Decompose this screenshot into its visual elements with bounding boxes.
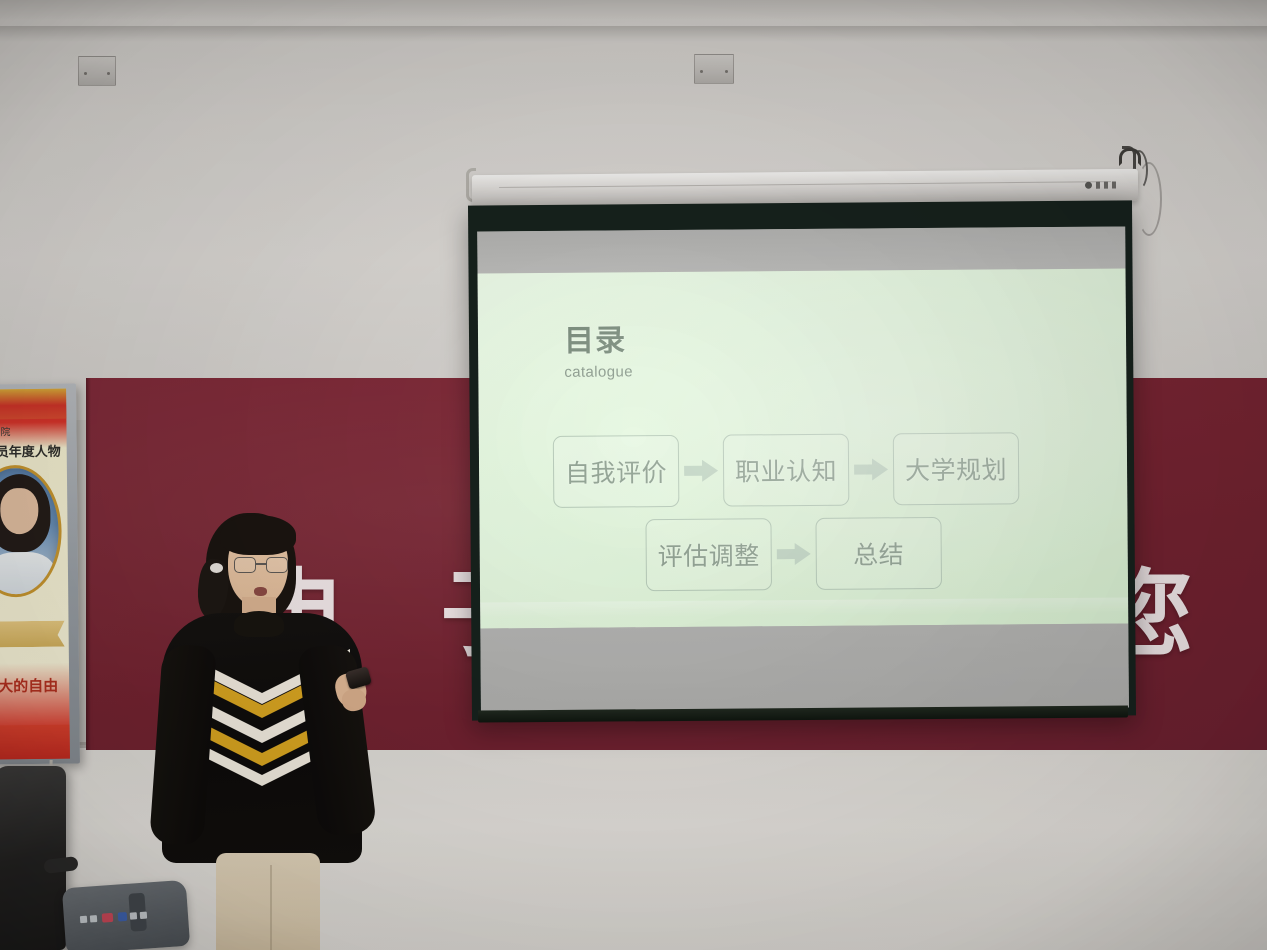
presenter-fringe <box>220 515 296 555</box>
logo-bar-icon <box>1096 182 1100 189</box>
slide-title-block: 目录 catalogue <box>564 326 633 381</box>
logo-bar-icon <box>1104 182 1108 189</box>
poster-portrait-photo <box>0 465 62 598</box>
poster-top-decoration <box>0 389 66 420</box>
logo-blue-icon <box>118 912 128 922</box>
brand-logo-icon <box>1085 182 1116 189</box>
wall-speaker-mount-left <box>78 56 116 86</box>
presenter-mouth <box>254 587 267 596</box>
portrait-face <box>0 488 38 534</box>
screen-band-bottom <box>480 623 1129 712</box>
glasses-bridge <box>256 563 266 565</box>
screw-icon <box>84 72 87 75</box>
projection-screen: 目录 catalogue 自我评价 职业认知 <box>468 200 1136 720</box>
hanging-cable-hook <box>1119 148 1141 166</box>
presenter-turtleneck-collar <box>234 611 284 637</box>
poster-motto-text: …大的自由 <box>0 675 70 697</box>
award-poster: …院 …员年度人物 …大的自由 <box>0 384 80 765</box>
ceiling-edge <box>0 26 1267 42</box>
backpack[interactable] <box>62 880 190 950</box>
glasses-lens-right <box>266 557 288 573</box>
portrait-body <box>0 552 55 598</box>
wall-speaker-mount-right <box>694 54 734 84</box>
red-banner-left-edge <box>86 378 91 750</box>
presenter-hair-tie <box>210 563 223 573</box>
housing-seam <box>499 181 1112 188</box>
glasses-icon <box>234 557 288 574</box>
screw-icon <box>700 70 703 73</box>
logo-square-icon <box>80 916 87 923</box>
screen-band-top <box>477 226 1125 273</box>
logo-dot-icon <box>1085 182 1092 189</box>
logo-square-icon <box>90 915 97 922</box>
logo-red-icon <box>102 913 114 923</box>
glasses-lens-left <box>234 557 256 573</box>
poster-bottom-decoration <box>0 725 70 760</box>
poster-award-title: …员年度人物 <box>0 441 69 461</box>
flow-box-career-cognition: 职业认知 <box>723 434 850 507</box>
screw-icon <box>107 72 110 75</box>
classroom-photo-scene: 电 子 信 您 目录 catalogue <box>0 0 1267 950</box>
logo-square-icon <box>140 912 147 919</box>
trouser-seam <box>270 865 272 950</box>
slide-flow-diagram: 自我评价 职业认知 大学规划 <box>553 432 1092 592</box>
flow-box-summary: 总结 <box>815 517 942 590</box>
poster-paper: …院 …员年度人物 …大的自由 <box>0 389 70 760</box>
logo-bar-icon <box>1112 182 1116 189</box>
slide-title: 目录 <box>564 326 633 357</box>
presenter-trousers <box>216 853 320 950</box>
student-presenter <box>150 505 390 950</box>
flow-arrow-right-icon <box>771 518 816 590</box>
projected-slide: 目录 catalogue 自我评价 职业认知 <box>478 268 1129 628</box>
flow-box-university-planning: 大学规划 <box>893 432 1020 505</box>
flow-row-1: 自我评价 职业认知 大学规划 <box>553 432 1092 508</box>
projection-screen-surface: 目录 catalogue 自我评价 职业认知 <box>477 226 1129 712</box>
slide-bottom-glow <box>480 597 1128 618</box>
poster-ribbon-decoration <box>0 621 65 648</box>
poster-org-line: …院 <box>0 423 69 439</box>
flow-box-assessment-adjustment: 评估调整 <box>645 518 772 591</box>
logo-square-icon <box>130 912 137 919</box>
flow-arrow-right-icon <box>849 433 894 505</box>
slide-subtitle: catalogue <box>564 363 633 381</box>
flow-arrow-right-icon <box>679 435 724 507</box>
flow-box-self-evaluation: 自我评价 <box>553 435 680 508</box>
screw-icon <box>725 70 728 73</box>
flow-row-2: 评估调整 总结 <box>645 516 1092 592</box>
